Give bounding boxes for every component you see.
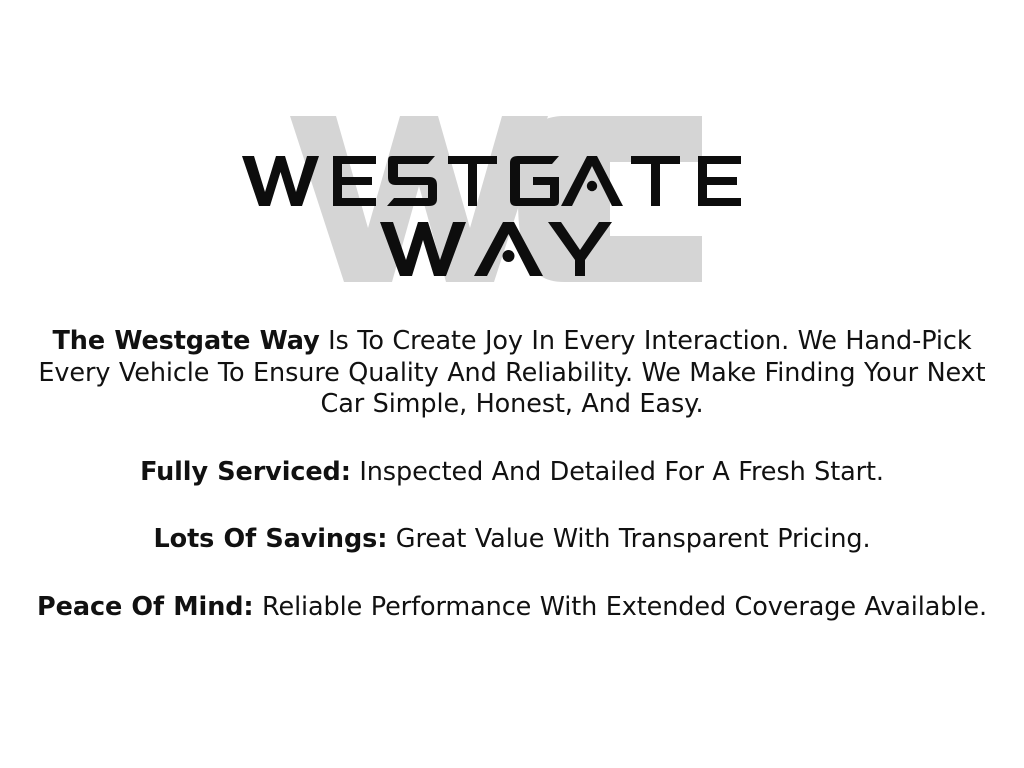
paragraph-lots-of-savings-text: Great Value With Transparent Pricing. — [387, 524, 870, 554]
logo-a-dot-way — [503, 250, 515, 262]
brand-logo — [0, 100, 1024, 290]
paragraph-fully-serviced-lead: Fully Serviced: — [140, 457, 351, 487]
paragraph-fully-serviced-text: Inspected And Detailed For A Fresh Start… — [351, 457, 884, 487]
paragraph-lots-of-savings: Lots Of Savings: Great Value With Transp… — [32, 524, 992, 556]
promo-slide: The Westgate Way Is To Create Joy In Eve… — [0, 0, 1024, 768]
paragraph-intro-lead: The Westgate Way — [53, 326, 320, 356]
value-proposition-copy: The Westgate Way Is To Create Joy In Eve… — [32, 326, 992, 623]
paragraph-fully-serviced: Fully Serviced: Inspected And Detailed F… — [32, 457, 992, 489]
westgate-way-logo-svg — [232, 100, 792, 290]
paragraph-peace-of-mind-lead: Peace Of Mind: — [37, 592, 253, 622]
paragraph-lots-of-savings-lead: Lots Of Savings: — [154, 524, 388, 554]
paragraph-peace-of-mind: Peace Of Mind: Reliable Performance With… — [32, 592, 992, 624]
paragraph-peace-of-mind-text: Reliable Performance With Extended Cover… — [254, 592, 987, 622]
paragraph-intro: The Westgate Way Is To Create Joy In Eve… — [32, 326, 992, 421]
logo-a-dot — [587, 181, 597, 191]
